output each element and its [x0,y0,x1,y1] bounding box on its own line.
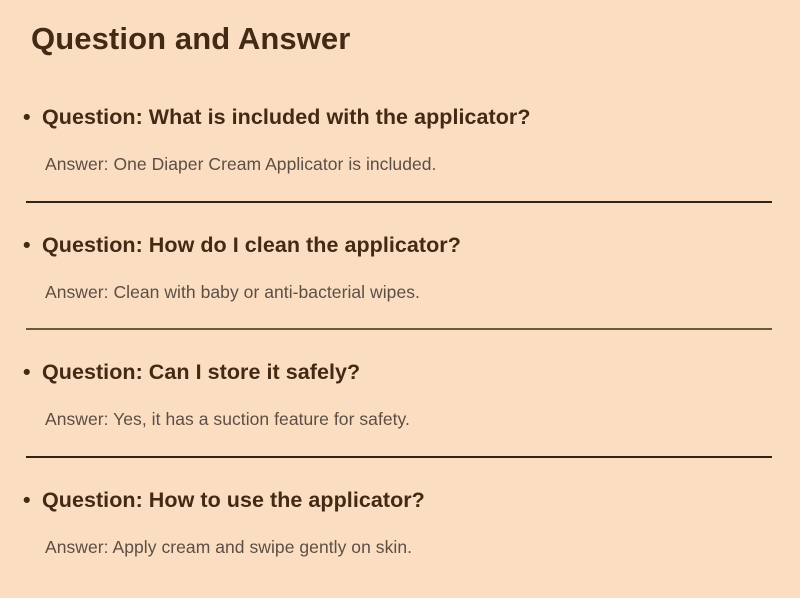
qa-question-text: Question: How to use the applicator? [42,488,425,512]
qa-question-text: Question: What is included with the appl… [42,105,531,129]
qa-item: • Question: How do I clean the applicato… [0,232,800,304]
bullet-icon: • [23,359,31,386]
qa-list: • Question: What is included with the ap… [0,88,800,559]
qa-question-text: Question: Can I store it safely? [42,360,360,384]
qa-divider [26,328,772,330]
qa-answer: Answer: Yes, it has a suction feature fo… [0,408,800,431]
qa-question: • Question: What is included with the ap… [0,104,800,131]
qa-question: • Question: Can I store it safely? [0,359,800,386]
qa-divider [26,456,772,458]
qa-divider [26,201,772,203]
qa-page: Question and Answer • Question: What is … [0,0,800,598]
bullet-icon: • [23,232,31,259]
qa-question-text: Question: How do I clean the applicator? [42,233,461,257]
qa-answer: Answer: One Diaper Cream Applicator is i… [0,153,800,176]
qa-answer: Answer: Clean with baby or anti-bacteria… [0,281,800,304]
qa-answer: Answer: Apply cream and swipe gently on … [0,536,800,559]
bullet-icon: • [23,104,31,131]
qa-item: • Question: How to use the applicator? A… [0,487,800,559]
page-title: Question and Answer [31,22,350,56]
qa-question: • Question: How do I clean the applicato… [0,232,800,259]
qa-item: • Question: What is included with the ap… [0,104,800,176]
qa-item: • Question: Can I store it safely? Answe… [0,359,800,431]
bullet-icon: • [23,487,31,514]
qa-question: • Question: How to use the applicator? [0,487,800,514]
